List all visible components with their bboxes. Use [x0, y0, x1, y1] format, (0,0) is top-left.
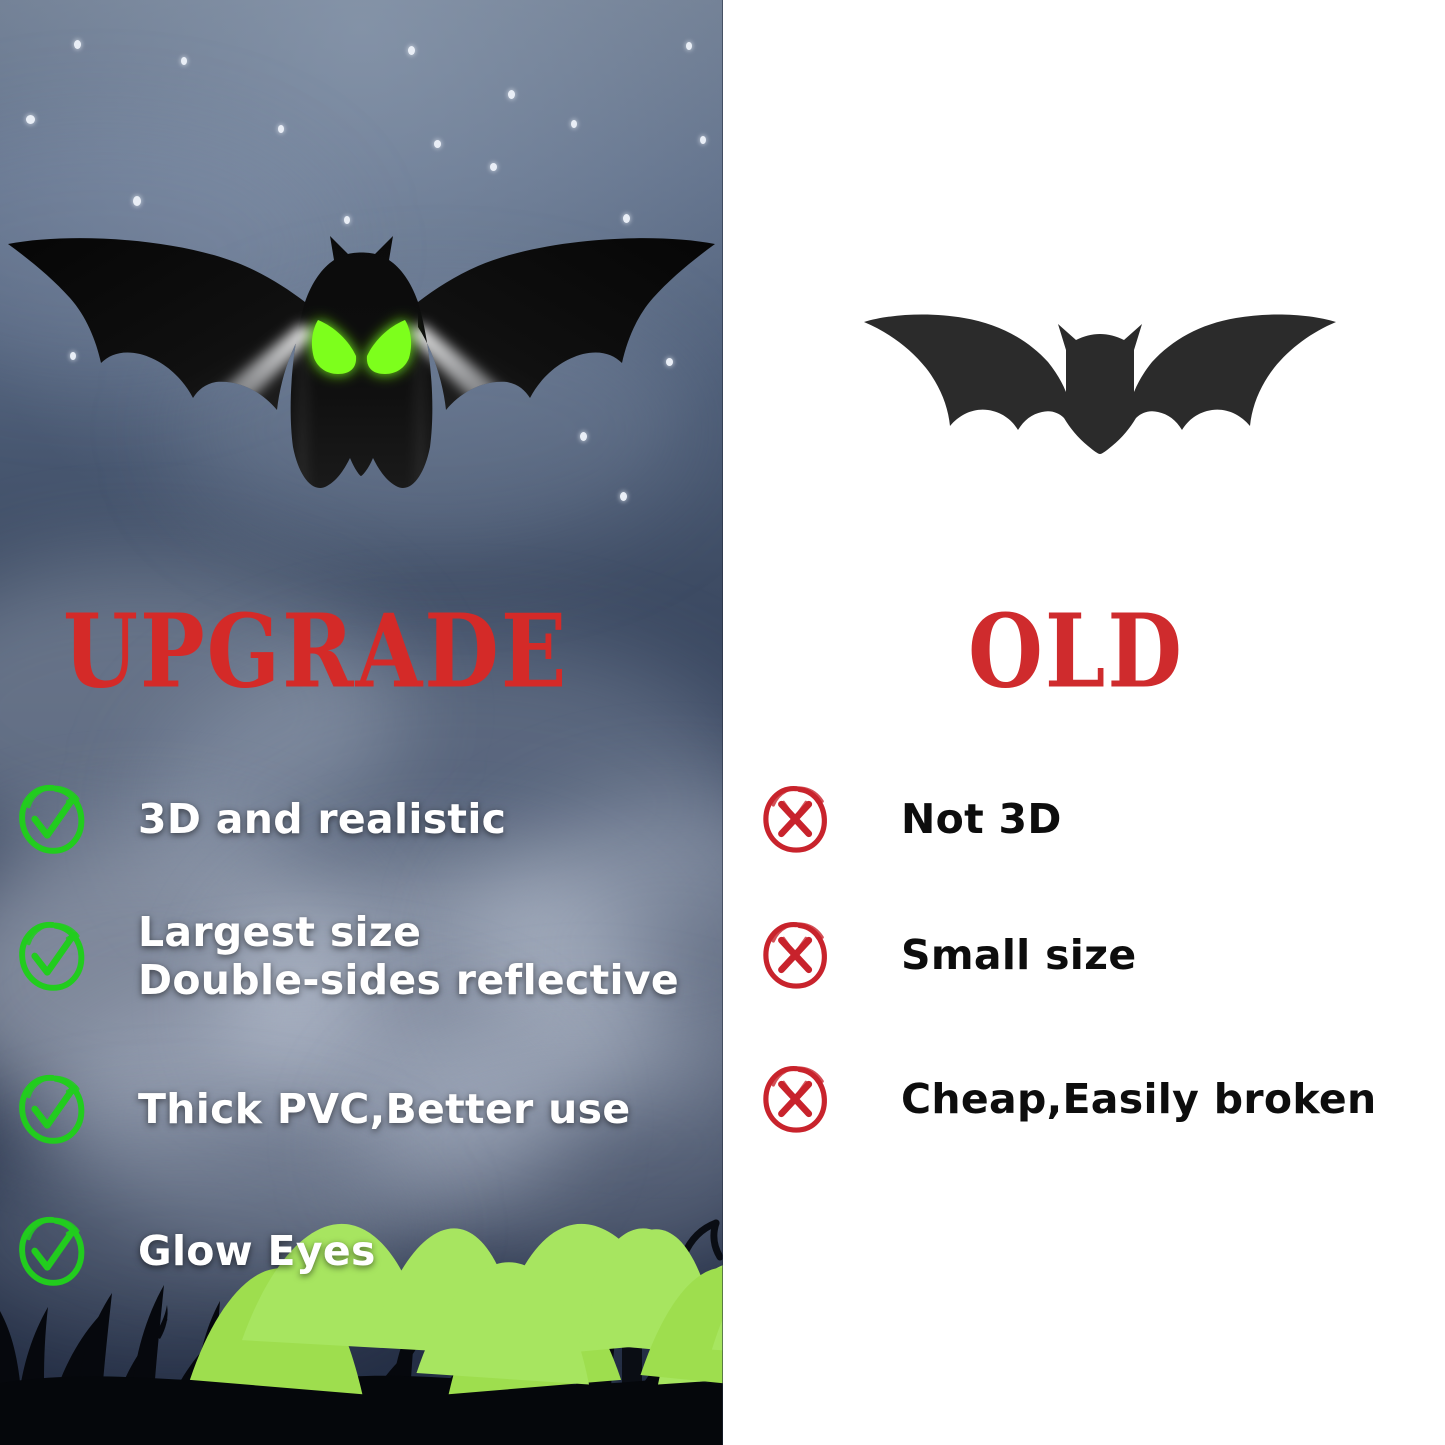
feature-label: Largest size Double-sides reflective: [138, 908, 679, 1005]
drawback-row-cheap-broken: Cheap,Easily broken: [757, 1062, 1376, 1136]
feature-row-largest-size: Largest size Double-sides reflective: [14, 908, 679, 1005]
check-circle-icon: [14, 782, 88, 856]
drawback-label: Cheap,Easily broken: [901, 1075, 1376, 1123]
feature-label: Thick PVC,Better use: [138, 1085, 630, 1133]
cross-circle-icon: [757, 1062, 831, 1136]
feature-label: 3D and realistic: [138, 795, 506, 843]
feature-row-3d-realistic: 3D and realistic: [14, 782, 506, 856]
drawback-label: Small size: [901, 931, 1136, 979]
check-circle-icon: [14, 919, 88, 993]
upgrade-title: UPGRADE: [63, 592, 568, 711]
drawback-row-small-size: Small size: [757, 918, 1136, 992]
upgrade-3d-bat-with-glowing-green-eyes: [0, 232, 723, 500]
check-circle-icon: [14, 1072, 88, 1146]
feature-row-glow-eyes: Glow Eyes: [14, 1214, 376, 1288]
old-panel: OLD Not 3D: [723, 0, 1445, 1445]
feature-row-thick-pvc: Thick PVC,Better use: [14, 1072, 630, 1146]
check-circle-icon: [14, 1214, 88, 1288]
cross-circle-icon: [757, 782, 831, 856]
creature-eyes-in-grass: [0, 1285, 723, 1445]
comparison-infographic: UPGRADE 3D and realistic: [0, 0, 1445, 1445]
old-title: OLD: [968, 592, 1184, 711]
feature-label: Glow Eyes: [138, 1227, 376, 1275]
upgrade-panel: UPGRADE 3D and realistic: [0, 0, 723, 1445]
old-flat-bat-silhouette: [860, 310, 1340, 488]
cross-circle-icon: [757, 918, 831, 992]
drawback-label: Not 3D: [901, 795, 1062, 843]
drawback-row-not-3d: Not 3D: [757, 782, 1062, 856]
